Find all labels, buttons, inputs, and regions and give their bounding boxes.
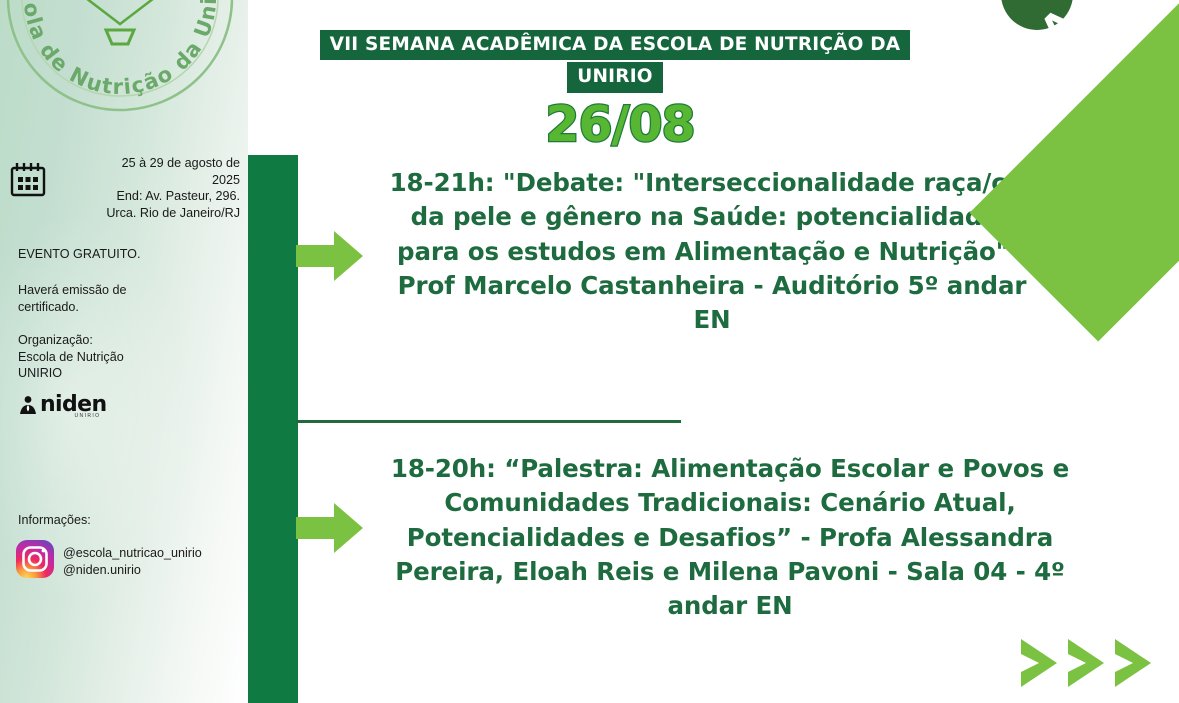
svg-text:Escola de Nutrição da Unirio: Escola de Nutrição da Unirio bbox=[0, 0, 221, 99]
ribbon-circle-decoration bbox=[1001, 0, 1073, 30]
instagram-handle-0[interactable]: @escola_nutricao_unirio bbox=[63, 545, 202, 562]
section-divider bbox=[296, 420, 681, 423]
emblem-text: Escola de Nutrição da Unirio bbox=[0, 0, 221, 99]
organization-line-1: Escola de Nutrição bbox=[18, 349, 230, 366]
niden-wordmark: niden bbox=[40, 394, 107, 416]
page-title-line-0: VII SEMANA ACADÊMICA DA ESCOLA DE NUTRIÇ… bbox=[320, 30, 911, 60]
poster-root: Escola de Nutrição da Unirio bbox=[0, 0, 1179, 703]
arrow-right-icon bbox=[296, 228, 364, 284]
certificate-line-1: certificado. bbox=[18, 299, 230, 316]
instagram-handle-1[interactable]: @niden.unirio bbox=[63, 562, 202, 579]
sidebar: Escola de Nutrição da Unirio bbox=[0, 0, 248, 703]
date-headline: 26/08 bbox=[300, 100, 940, 149]
date-line-0: 25 à 29 de agosto de bbox=[56, 155, 240, 172]
date-address-text: 25 à 29 de agosto de 2025 End: Av. Paste… bbox=[56, 155, 240, 221]
vertical-green-bar bbox=[248, 155, 298, 703]
page-title: VII SEMANA ACADÊMICA DA ESCOLA DE NUTRIÇ… bbox=[305, 30, 925, 93]
free-event-note: EVENTO GRATUITO. bbox=[18, 246, 230, 263]
info-label: Informações: bbox=[18, 512, 230, 529]
event-text-2: 18-20h: “Palestra: Alimentação Escolar e… bbox=[380, 452, 1080, 623]
event-text-1: 18-21h: "Debate: "Interseccionalidade ra… bbox=[380, 166, 1044, 337]
niden-logo: niden UNIRIO bbox=[18, 394, 100, 421]
instagram-row[interactable]: @escola_nutricao_unirio @niden.unirio bbox=[16, 540, 202, 583]
instagram-handles[interactable]: @escola_nutricao_unirio @niden.unirio bbox=[63, 545, 202, 578]
date-line-3: Urca. Rio de Janeiro/RJ bbox=[56, 205, 240, 222]
date-line-2: End: Av. Pasteur, 296. bbox=[56, 188, 240, 205]
certificate-line-0: Haverá emissão de bbox=[18, 282, 230, 299]
organization-line-0: Organização: bbox=[18, 332, 230, 349]
chevron-right-triple-icon bbox=[1017, 637, 1155, 689]
instagram-icon[interactable] bbox=[16, 540, 54, 583]
certificate-note: Haverá emissão de certificado. bbox=[18, 282, 230, 315]
date-address-block: 25 à 29 de agosto de 2025 End: Av. Paste… bbox=[8, 155, 240, 221]
page-title-line-1: UNIRIO bbox=[567, 62, 662, 92]
organization-note: Organização: Escola de Nutrição UNIRIO bbox=[18, 332, 230, 382]
calendar-icon bbox=[8, 160, 48, 205]
organization-line-2: UNIRIO bbox=[18, 365, 230, 382]
date-line-1: 2025 bbox=[56, 172, 240, 189]
niden-logo-icon bbox=[18, 394, 38, 421]
school-emblem: Escola de Nutrição da Unirio bbox=[0, 0, 246, 124]
arrow-right-icon bbox=[296, 500, 364, 556]
